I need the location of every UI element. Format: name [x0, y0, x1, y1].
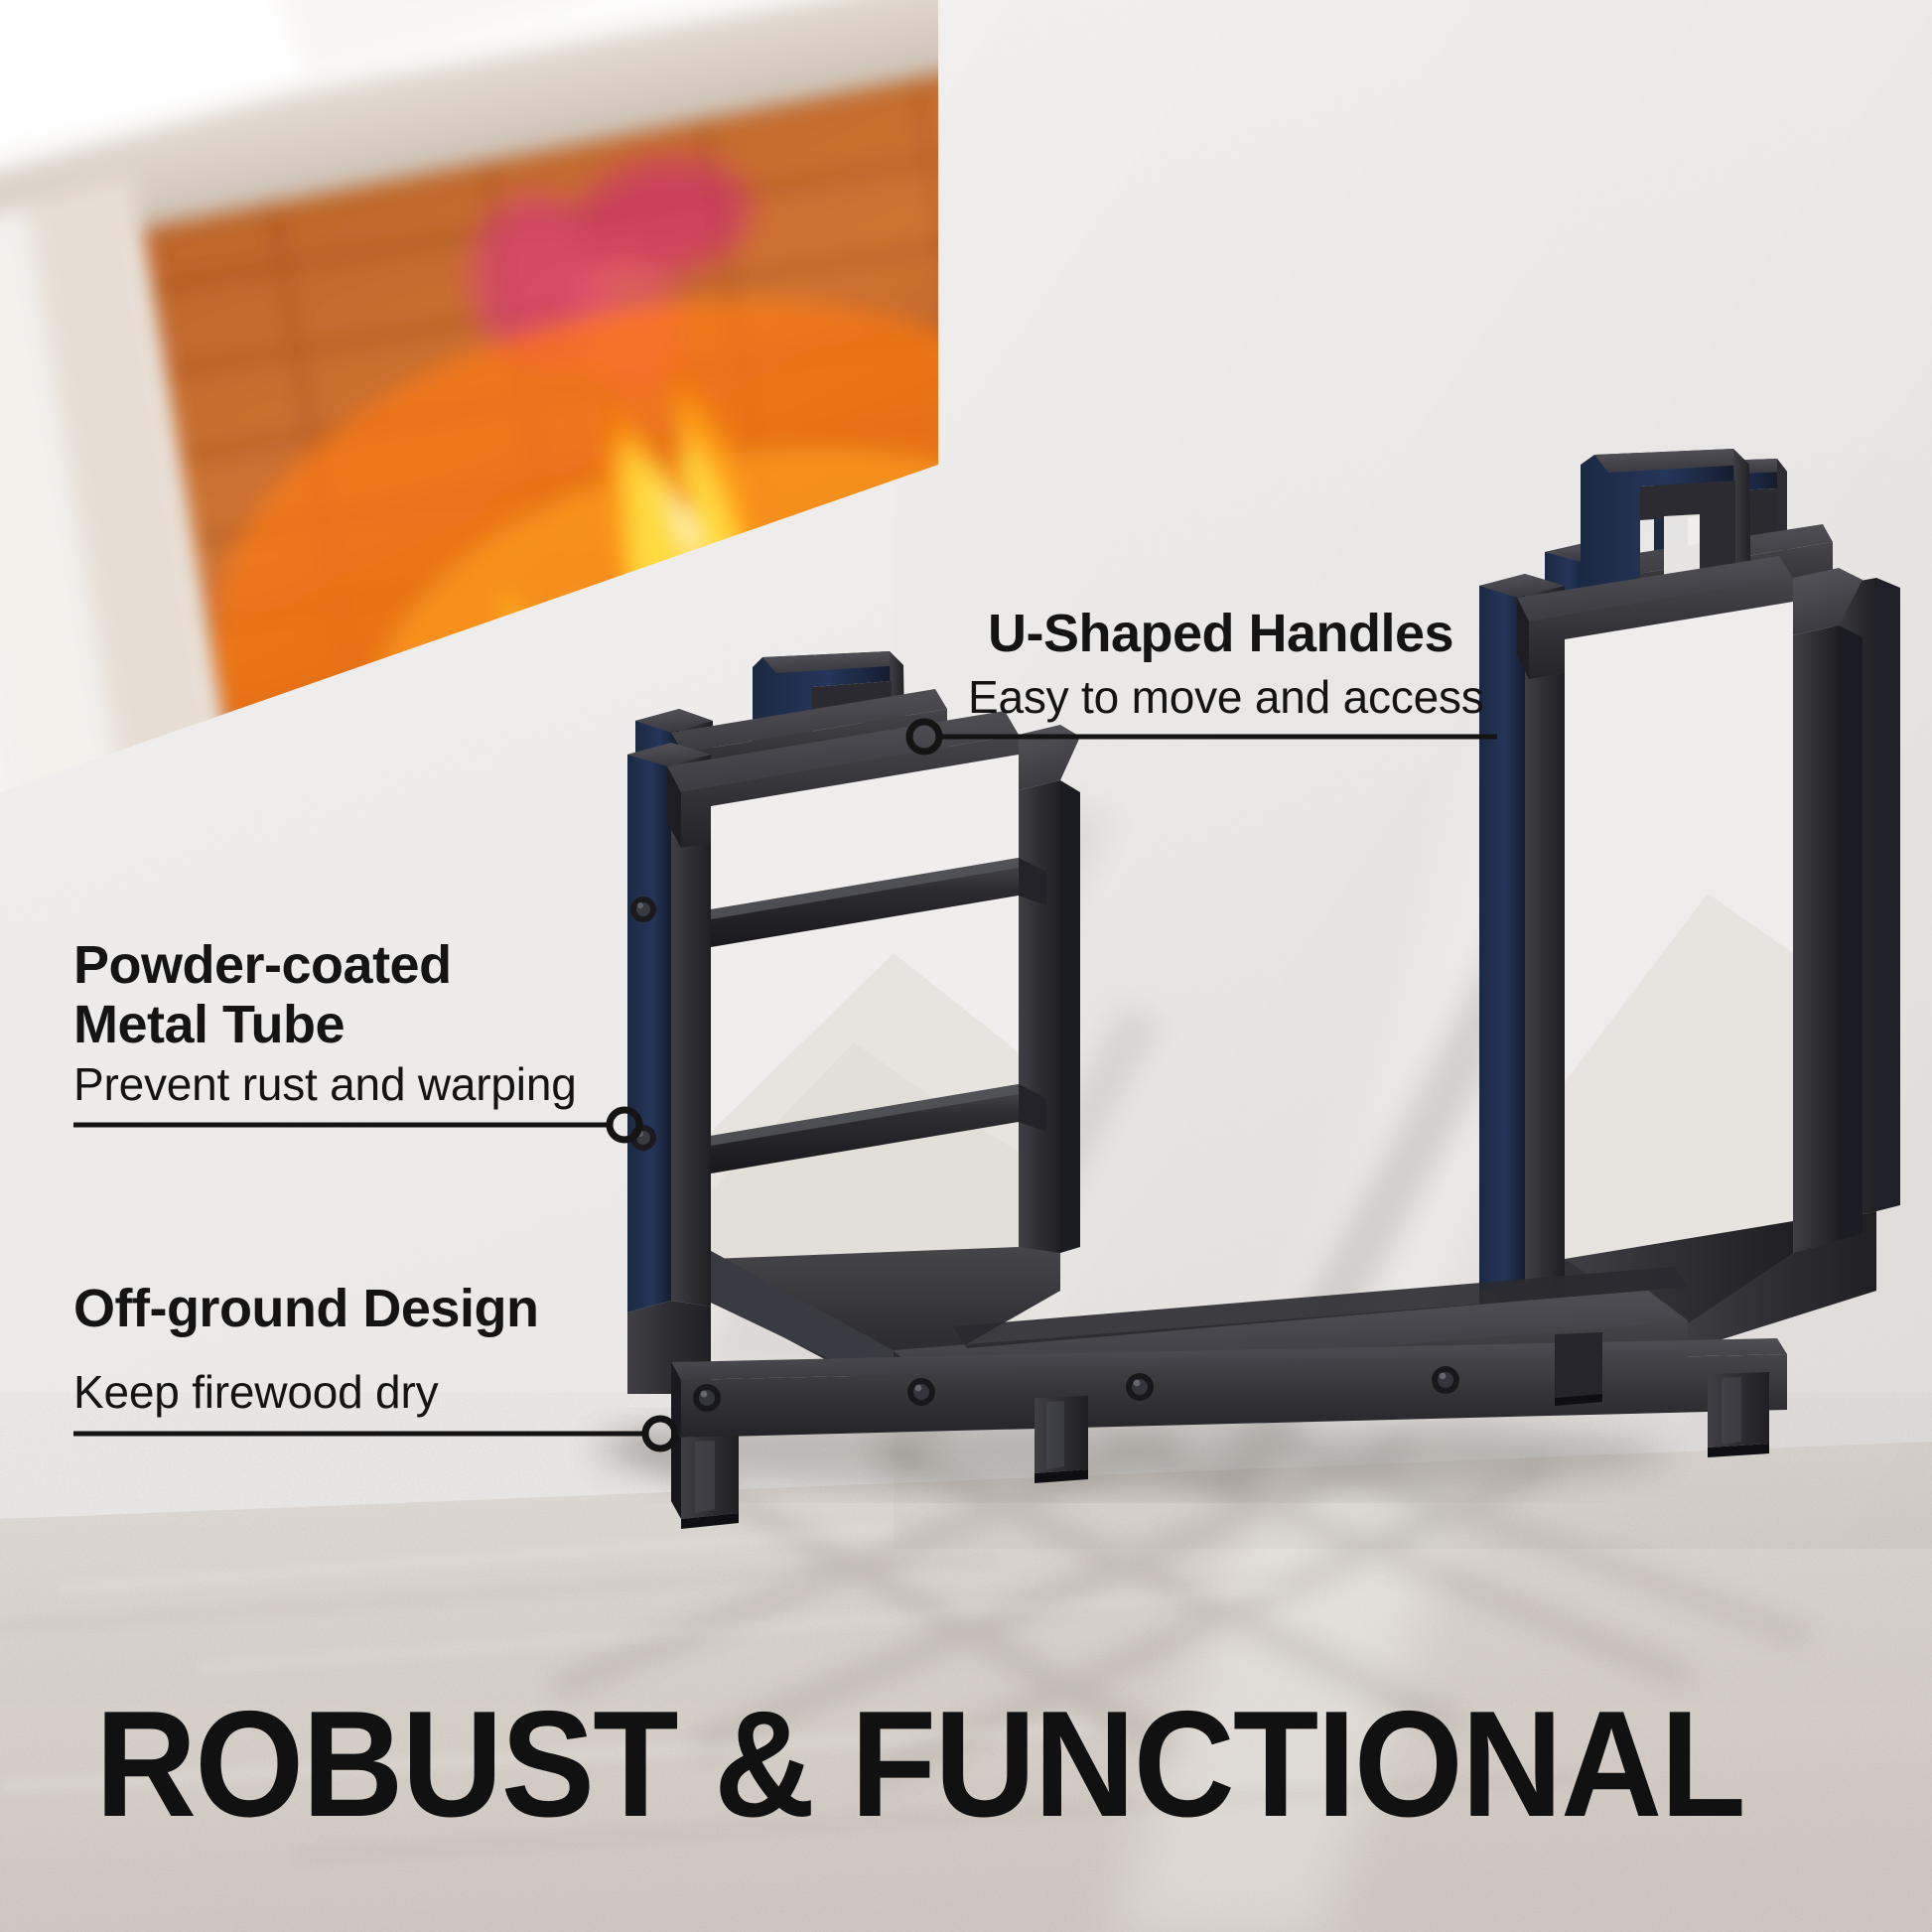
callout-subtitle-u-shaped-handles: Easy to move and access	[968, 673, 1484, 721]
callout-title-off-ground-design: Off-ground Design	[73, 1281, 538, 1336]
callout-subtitle-powder-coated: Prevent rust and warping	[73, 1060, 577, 1108]
leader-off-ground	[73, 1419, 675, 1449]
bottom-headline: ROBUST & FUNCTIONAL	[95, 1678, 1744, 1852]
callout-title-u-shaped-handles: U-Shaped Handles	[988, 606, 1453, 661]
callout-title-powder-coated-line2: Metal Tube	[73, 997, 345, 1052]
callout-subtitle-off-ground-design: Keep firewood dry	[73, 1368, 438, 1416]
leader-powder-coated	[73, 1110, 639, 1140]
leader-u-shaped-handles	[909, 722, 1497, 752]
product-feature-graphic: U-Shaped Handles Easy to move and access…	[0, 0, 1932, 1932]
callout-title-powder-coated-line1: Powder-coated	[73, 937, 452, 993]
